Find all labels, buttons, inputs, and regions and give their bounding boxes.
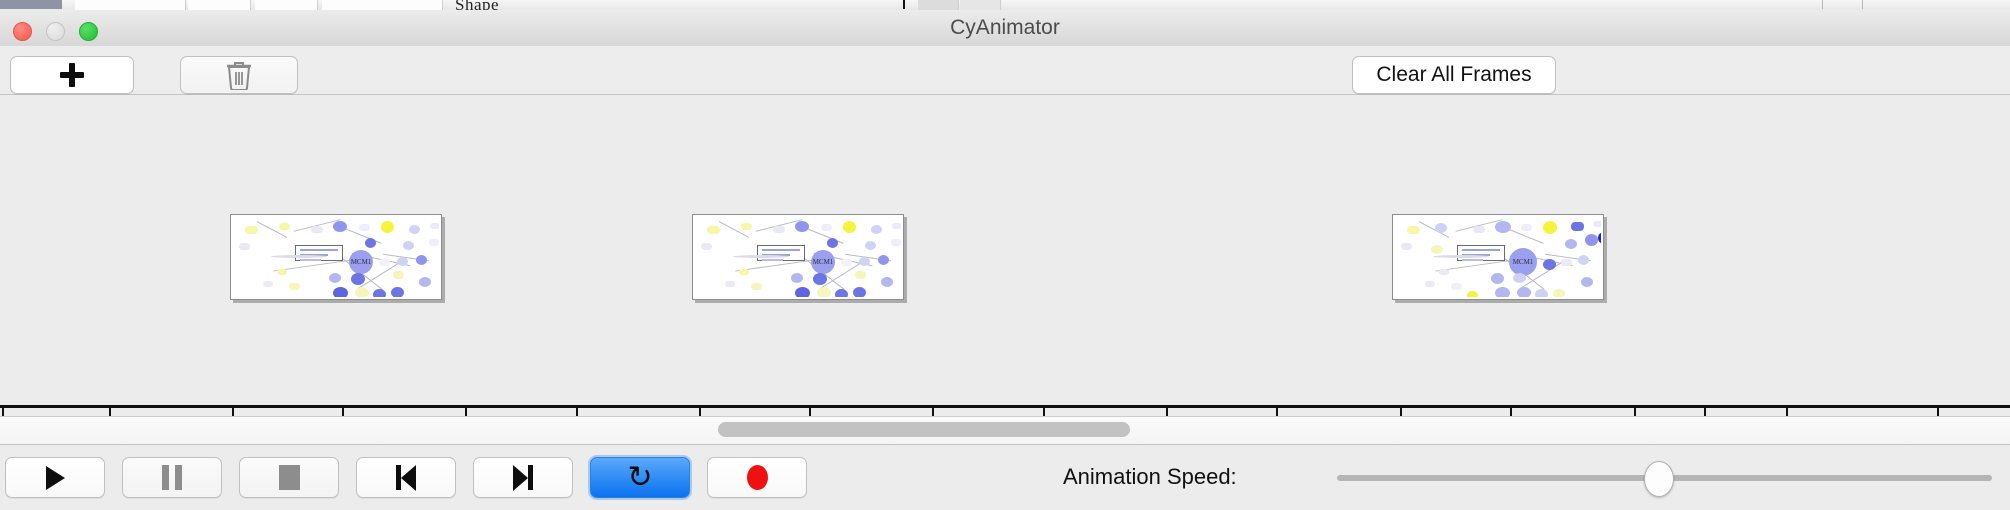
close-icon[interactable]: [13, 22, 32, 41]
skip-to-end-button[interactable]: [473, 457, 573, 498]
maximize-icon[interactable]: [79, 22, 98, 41]
axis-tick-minor: [1276, 408, 1278, 417]
play-button[interactable]: [5, 457, 105, 498]
trash-icon: [225, 60, 253, 90]
background-window-tab: [75, 0, 186, 10]
background-window-marker: [1822, 0, 1823, 9]
toolbar: [0, 46, 2010, 95]
background-window-marker: [903, 0, 905, 9]
background-window-marker: [1862, 0, 1863, 9]
timeline-scrollbar[interactable]: [0, 417, 2010, 445]
timeline-axis: 2 13 14 15 16 17 18 Seconds: [0, 95, 2010, 416]
clear-all-frames-label: Clear All Frames: [1376, 63, 1531, 87]
background-window-tab: [255, 0, 318, 10]
background-window-tab: [960, 0, 1001, 10]
window-traffic-lights: [13, 22, 98, 41]
skip-to-end-icon: [513, 465, 533, 491]
axis-tick-major: [465, 408, 467, 417]
axis-tick-major: [2, 408, 4, 417]
axis-tick-minor: [342, 408, 344, 417]
add-frame-button[interactable]: [10, 56, 134, 94]
animation-speed-label: Animation Speed:: [1063, 458, 1237, 496]
animation-speed-slider-thumb[interactable]: [1644, 461, 1674, 497]
background-window-selected-tab: [0, 0, 62, 9]
pause-icon: [162, 465, 182, 490]
axis-tick-major: [1786, 408, 1788, 417]
stop-icon: [279, 465, 300, 490]
skip-to-start-icon: [396, 465, 416, 491]
axis-line: [0, 405, 2010, 408]
axis-tick-major: [232, 408, 234, 417]
axis-tick-minor: [809, 408, 811, 417]
axis-tick-major: [1166, 408, 1168, 417]
clear-all-frames-button[interactable]: Clear All Frames: [1352, 56, 1556, 94]
timeline-scrollbar-thumb[interactable]: [718, 422, 1130, 437]
background-window-tab: [322, 0, 443, 10]
timeline-panel[interactable]: MCM1: [0, 95, 2010, 417]
axis-tick-major: [699, 408, 701, 417]
axis-tick-major: [1634, 408, 1636, 417]
record-button[interactable]: [707, 457, 807, 498]
plus-icon: [57, 60, 87, 90]
axis-tick-minor: [1510, 408, 1512, 417]
minimize-icon[interactable]: [46, 22, 65, 41]
background-window-tab: [188, 0, 251, 10]
stop-button[interactable]: [239, 457, 339, 498]
play-icon: [46, 466, 65, 490]
cyanimator-window: Shape CyAnimator Clear All Frames: [0, 0, 2010, 510]
axis-tick-minor: [1704, 408, 1706, 417]
background-window-tab: [918, 0, 959, 10]
axis-tick-minor: [109, 408, 111, 417]
axis-tick-minor: [576, 408, 578, 417]
window-title: CyAnimator: [0, 10, 2010, 46]
pause-button[interactable]: [122, 457, 222, 498]
title-bar: CyAnimator: [0, 10, 2010, 47]
delete-frame-button[interactable]: [180, 56, 298, 94]
axis-tick-major: [932, 408, 934, 417]
skip-to-start-button[interactable]: [356, 457, 456, 498]
axis-tick-major: [1400, 408, 1402, 417]
record-icon: [747, 465, 768, 490]
axis-tick-minor: [1043, 408, 1045, 417]
loop-button[interactable]: ↻: [590, 457, 690, 498]
axis-tick-minor: [1937, 408, 1939, 417]
loop-icon: ↻: [627, 463, 652, 493]
